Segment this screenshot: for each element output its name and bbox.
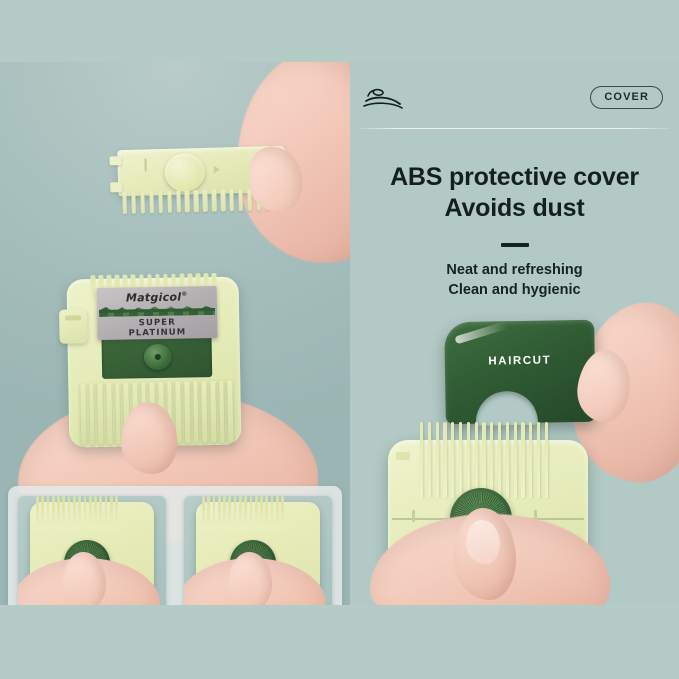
thumbnail [466, 520, 500, 564]
right-content-panel: COVER ABS protective cover Avoids dust N… [350, 62, 679, 605]
inset-photo-right [184, 496, 332, 605]
blade-brand-name: Matgicol [126, 291, 182, 305]
inset-photo-group: Convenient blade height control through … [8, 486, 342, 605]
right-panel-header: COVER [350, 62, 679, 132]
blade-registered-mark: ® [181, 291, 187, 298]
cover-badge[interactable]: COVER [590, 86, 663, 109]
abs-protective-cover: HAIRCUT [444, 320, 596, 425]
header-divider-rule [358, 128, 670, 129]
blade-assembly: Matgicol® SUPER PLATINUM [60, 272, 251, 457]
product-infographic: Matgicol® SUPER PLATINUM [0, 0, 679, 679]
comb-bottom-teeth [420, 422, 548, 498]
headline-dash-divider [501, 243, 529, 247]
comb-top-tab-lower [110, 182, 122, 192]
comb-top-slot [144, 158, 146, 171]
subcopy-line-1: Neat and refreshing [350, 260, 679, 280]
blade-assembly-side-ear [59, 309, 88, 343]
razor-blade-label: Matgicol® SUPER PLATINUM [97, 286, 218, 340]
blade-label-line-2: PLATINUM [97, 327, 217, 339]
comb-bottom-slot [396, 452, 410, 460]
comb-top-arrow-marker [214, 166, 220, 174]
inset-photo-left [18, 496, 166, 605]
wave-hand-line-icon [362, 84, 406, 110]
side-ear-notch [65, 315, 81, 320]
left-photo-panel: Matgicol® SUPER PLATINUM [0, 62, 350, 605]
headline-line-1: ABS protective cover [350, 162, 679, 193]
headline: ABS protective cover Avoids dust [350, 162, 679, 223]
inset-right-top-teeth [202, 496, 284, 530]
comb-top-tab-upper [109, 156, 121, 165]
headline-line-2: Avoids dust [350, 193, 679, 224]
subcopy-line-2: Clean and hygienic [350, 280, 679, 300]
subcopy: Neat and refreshing Clean and hygienic [350, 260, 679, 300]
inset-left-top-teeth [36, 496, 118, 530]
comb-bottom-notch-left [412, 510, 415, 522]
blade-brand-text: Matgicol® [97, 290, 217, 305]
